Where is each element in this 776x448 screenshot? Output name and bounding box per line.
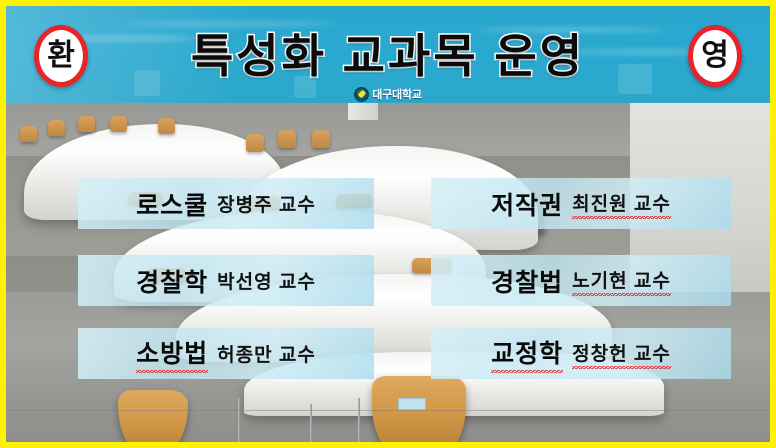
course-professor: 노기현 교수 — [572, 266, 671, 296]
course-subject: 소방법 — [136, 334, 208, 373]
floor-seam — [6, 410, 770, 411]
badge-left: 환 — [34, 25, 88, 87]
chair — [158, 118, 175, 134]
course-professor: 최진원 교수 — [572, 189, 671, 219]
university-logo: 대구대학교 — [6, 86, 770, 102]
chair — [246, 134, 264, 152]
course-box: 경찰법 노기현 교수 — [431, 255, 731, 306]
course-subject: 경찰학 — [136, 263, 208, 299]
chair — [278, 130, 296, 148]
course-box: 소방법 허종만 교수 — [78, 328, 374, 379]
course-professor: 장병주 교수 — [217, 190, 316, 217]
course-subject: 교정학 — [491, 334, 563, 373]
chair-leg — [358, 398, 360, 442]
course-subject: 경찰법 — [491, 263, 563, 299]
badge-right: 영 — [688, 25, 742, 87]
chair-label-tag — [398, 398, 426, 410]
course-subject: 로스쿨 — [136, 186, 208, 222]
course-box: 저작권 최진원 교수 — [431, 178, 731, 229]
page-title: 특성화 교과목 운영 — [6, 20, 770, 86]
badge-right-label: 영 — [701, 41, 729, 71]
course-professor: 박선영 교수 — [217, 267, 316, 294]
course-box: 경찰학 박선영 교수 — [78, 255, 374, 306]
chair — [78, 116, 95, 132]
course-box: 교정학 정창헌 교수 — [431, 328, 731, 379]
university-name: 대구대학교 — [372, 86, 422, 102]
presentation-slide: 특성화 교과목 운영 환 영 대구대학교 로스쿨 장병주 교수 경찰학 박선영 … — [0, 0, 776, 448]
badge-left-label: 환 — [47, 41, 75, 71]
chair — [20, 126, 37, 142]
chair-leg — [238, 398, 240, 442]
chair — [48, 120, 65, 136]
university-emblem-icon — [354, 87, 369, 102]
foreground-chair — [118, 390, 188, 442]
chair — [110, 116, 127, 132]
header-banner: 특성화 교과목 운영 환 영 대구대학교 — [6, 6, 770, 103]
course-subject: 저작권 — [491, 186, 563, 222]
course-professor: 정창헌 교수 — [572, 339, 671, 369]
course-box: 로스쿨 장병주 교수 — [78, 178, 374, 229]
course-professor: 허종만 교수 — [217, 340, 316, 367]
chair — [312, 130, 330, 148]
